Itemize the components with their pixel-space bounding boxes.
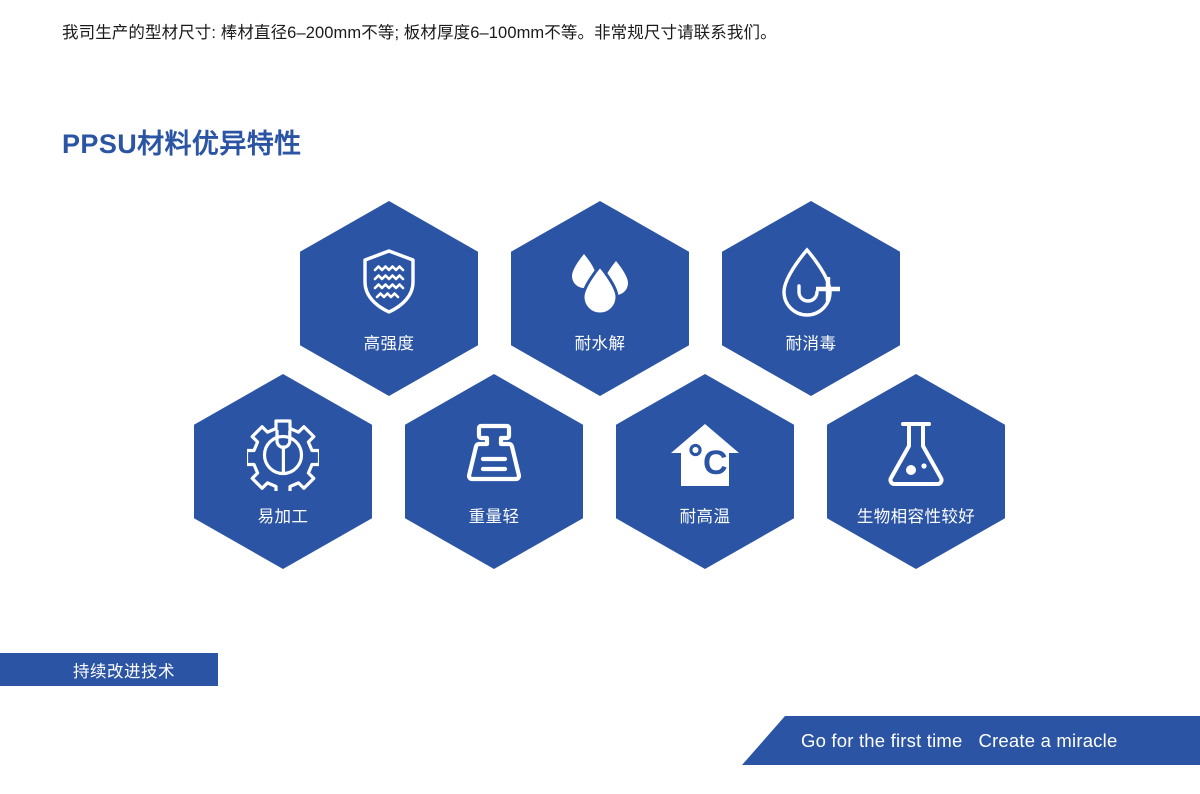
weight-icon xyxy=(458,418,530,492)
feature-label: 易加工 xyxy=(258,503,309,527)
flask-icon xyxy=(880,418,952,492)
feature-label: 生物相容性较好 xyxy=(857,503,975,527)
slogan-banner: Go for the first time Create a miracle xyxy=(742,716,1200,765)
feature-label: 重量轻 xyxy=(469,503,520,527)
slogan-text: Go for the first time Create a miracle xyxy=(801,730,1117,752)
feature-label: 耐水解 xyxy=(575,330,626,354)
feature-hex-sterilization-resistance[interactable]: 耐消毒 xyxy=(722,201,900,396)
water-drops-icon xyxy=(564,245,636,319)
shield-waves-icon xyxy=(353,245,425,319)
drop-plus-icon xyxy=(775,245,847,319)
feature-label: 耐高温 xyxy=(680,503,731,527)
feature-label: 耐消毒 xyxy=(786,330,837,354)
feature-hex-hydrolysis-resistance[interactable]: 耐水解 xyxy=(511,201,689,396)
feature-hex-easy-machining[interactable]: 易加工 xyxy=(194,374,372,569)
continuous-improvement-tag[interactable]: 持续改进技术 xyxy=(0,653,218,686)
feature-hex-high-temperature-resistance[interactable]: C 耐高温 xyxy=(616,374,794,569)
feature-hex-biocompatibility[interactable]: 生物相容性较好 xyxy=(827,374,1005,569)
feature-hex-high-strength[interactable]: 高强度 xyxy=(300,201,478,396)
tag-label: 持续改进技术 xyxy=(43,658,175,682)
gear-wrench-icon xyxy=(247,418,319,492)
house-celsius-icon: C xyxy=(669,418,741,492)
feature-hex-light-weight[interactable]: 重量轻 xyxy=(405,374,583,569)
slide-page: 我司生产的型材尺寸: 棒材直径6–200mm不等; 板材厚度6–100mm不等。… xyxy=(0,0,1200,794)
feature-label: 高强度 xyxy=(364,330,415,354)
svg-text:C: C xyxy=(703,444,728,482)
